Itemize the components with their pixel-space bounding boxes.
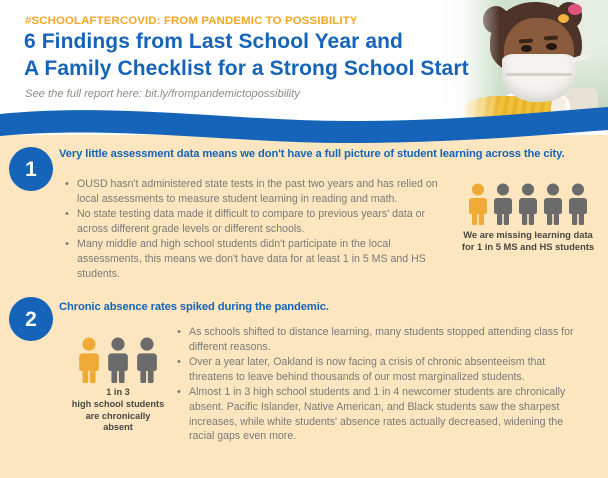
finding-2-title: Chronic absence rates spiked during the … (59, 300, 539, 314)
finding-1-infographic: We are missing learning data for 1 in 5 … (452, 183, 604, 252)
people-icon-row (452, 183, 604, 225)
caption-line: for 1 in 5 MS and HS students (452, 241, 604, 253)
report-link-text: See the full report here: bit.ly/frompan… (25, 88, 300, 100)
list-item: Many middle and high school students did… (64, 237, 444, 281)
list-item: OUSD hasn't administered state tests in … (64, 177, 444, 206)
caption-line: 1 in 3 (48, 387, 188, 399)
eye-right (546, 43, 557, 50)
person-icon (493, 183, 513, 225)
finding-2-bullet-list: As schools shifted to distance learning,… (176, 325, 588, 445)
finding-1-bullet-list: OUSD hasn't administered state tests in … (64, 177, 444, 282)
list-item: No state testing data made it difficult … (64, 207, 444, 236)
person-icon (543, 183, 563, 225)
face-mask-fold (506, 73, 572, 76)
page-title-line-1: 6 Findings from Last School Year and (24, 30, 403, 54)
hair-tie-yellow (558, 14, 569, 23)
caption-line: We are missing learning data (452, 229, 604, 241)
finding-2-number-badge: 2 (9, 297, 53, 341)
finding-1-number-badge: 1 (9, 147, 53, 191)
caption-line: absent (48, 422, 188, 434)
blue-wave-divider (0, 106, 608, 148)
list-item: Almost 1 in 3 high school students and 1… (176, 385, 588, 443)
finding-2-infographic: 1 in 3 high school students are chronica… (48, 337, 188, 434)
person-icon (107, 337, 129, 383)
finding-1-title: Very little assessment data means we don… (59, 147, 587, 161)
list-item: As schools shifted to distance learning,… (176, 325, 588, 354)
person-icon (568, 183, 588, 225)
caption-line: high school students (48, 399, 188, 411)
page-title-line-2: A Family Checklist for a Strong School S… (24, 57, 469, 81)
campaign-hashtag: #SCHOOLAFTERCOVID: FROM PANDEMIC TO POSS… (25, 15, 358, 27)
person-icon-highlighted (468, 183, 488, 225)
finding-2-infographic-caption: 1 in 3 high school students are chronica… (48, 387, 188, 434)
person-icon-highlighted (78, 337, 100, 383)
hair-tie-pink (568, 4, 582, 15)
finding-1-infographic-caption: We are missing learning data for 1 in 5 … (452, 229, 604, 252)
person-icon (518, 183, 538, 225)
people-icon-row (48, 337, 188, 383)
person-icon (136, 337, 158, 383)
caption-line: are chronically (48, 411, 188, 423)
infographic-page: #SCHOOLAFTERCOVID: FROM PANDEMIC TO POSS… (0, 0, 608, 478)
eye-left (521, 45, 532, 52)
list-item: Over a year later, Oakland is now facing… (176, 355, 588, 384)
